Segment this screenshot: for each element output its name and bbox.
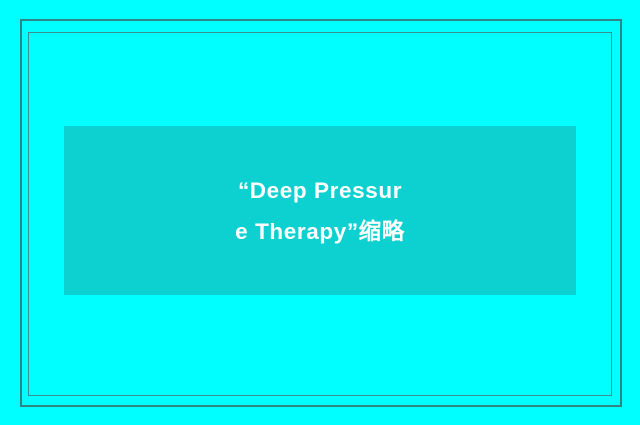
title-line-1: “Deep Pressur bbox=[238, 170, 402, 211]
slide-canvas: “Deep Pressur e Therapy”缩略 bbox=[0, 0, 640, 425]
title-line-2: e Therapy”缩略 bbox=[235, 211, 405, 252]
title-panel: “Deep Pressur e Therapy”缩略 bbox=[64, 126, 576, 295]
